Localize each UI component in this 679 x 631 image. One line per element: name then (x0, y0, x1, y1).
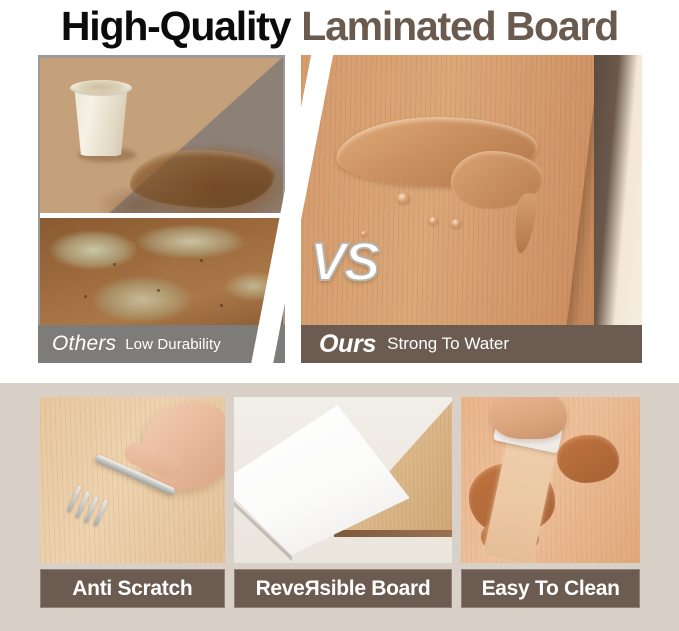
comparison-left-column: Others Low Durability (38, 55, 285, 363)
mold-speck (220, 304, 223, 307)
feature-caption-label: Easy To Clean (482, 577, 620, 601)
others-sublabel: Low Durability (125, 336, 221, 353)
title-part-secondary: Laminated Board (301, 6, 618, 47)
hand (491, 397, 567, 439)
photo-coffee-spill (40, 58, 283, 213)
mold-speck (200, 259, 203, 262)
feature-caption-bar: Easy To Clean (461, 569, 640, 608)
feature-easy-to-clean: Easy To Clean (461, 397, 640, 608)
others-label-bar: Others Low Durability (38, 325, 285, 363)
feature-caption-label: Anti Scratch (72, 577, 192, 601)
page-title: High-Quality Laminated Board (0, 0, 679, 52)
feature-caption-label: ReveЯsible Board (256, 577, 431, 601)
feature-band: Anti Scratch ReveЯsible Board (0, 383, 679, 631)
spill-stain (557, 435, 619, 483)
wood-panel-edge (334, 530, 452, 537)
title-part-primary: High-Quality (61, 6, 290, 47)
feature-anti-scratch: Anti Scratch (40, 397, 225, 608)
photo-mold-damage (40, 218, 283, 325)
water-droplet (397, 193, 410, 204)
mold-speck (84, 295, 87, 298)
spill-shape (130, 150, 275, 208)
paper-cup-rim (70, 80, 132, 96)
ours-sublabel: Strong To Water (387, 334, 509, 354)
others-label: Others (52, 332, 116, 356)
feature-caption-bar: Anti Scratch (40, 569, 225, 608)
mold-speck (157, 289, 160, 292)
fork-head (66, 485, 118, 530)
ours-label-bar: Ours Strong To Water (301, 325, 642, 363)
vs-badge: VS (310, 235, 378, 289)
photo-fork-scratch-test (40, 397, 225, 563)
ours-label: Ours (319, 330, 376, 359)
photo-reversible-panels (234, 397, 453, 563)
feature-list: Anti Scratch ReveЯsible Board (40, 397, 640, 608)
comparison-right-column: Ours Strong To Water (301, 55, 642, 363)
water-droplet (451, 219, 462, 228)
feature-reversible-board: ReveЯsible Board (234, 397, 453, 608)
photo-wiping-spill (461, 397, 640, 563)
feature-caption-bar: ReveЯsible Board (234, 569, 453, 608)
comparison-section: Others Low Durability Ours Strong To Wat… (38, 55, 642, 363)
water-droplet (429, 217, 438, 225)
mold-speck (113, 263, 116, 266)
